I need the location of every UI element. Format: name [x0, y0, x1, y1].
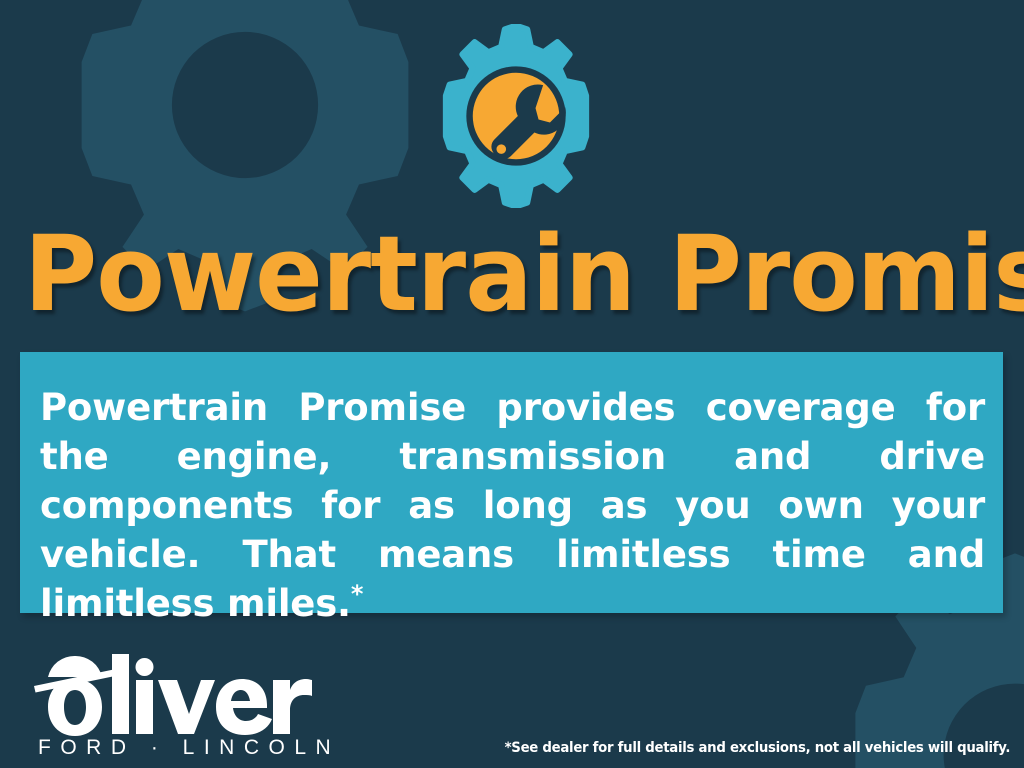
dealer-logo: FORD · LINCOLN [28, 640, 328, 760]
promise-description-text: Powertrain Promise provides coverage for… [40, 383, 985, 628]
promise-description-panel: Powertrain Promise provides coverage for… [20, 352, 1003, 613]
footnote-marker: * [351, 580, 363, 608]
gear-wrench-icon [424, 24, 608, 208]
dealer-logo-subtitle: FORD · LINCOLN [38, 736, 340, 760]
oliver-wordmark-icon [28, 640, 328, 740]
promise-description-sentence: Powertrain Promise provides coverage for… [40, 386, 985, 625]
disclaimer-text: *See dealer for full details and exclusi… [504, 740, 1010, 756]
page-title: Powertrain Promise [24, 218, 969, 330]
powertrain-promise-poster: Powertrain Promise Powertrain Promise pr… [0, 0, 1024, 768]
